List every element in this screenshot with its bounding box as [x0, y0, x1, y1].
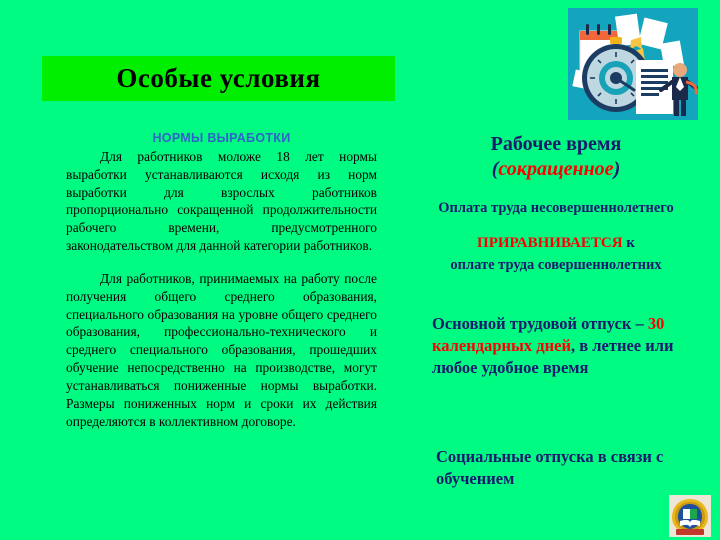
equals-tail: к	[623, 235, 635, 251]
page-title: Особые условия	[116, 63, 320, 94]
equals-emphasis: ПРИРАВНИВАЕТСЯ	[477, 235, 622, 251]
line-equals: ПРИРАВНИВАЕТСЯ к	[396, 234, 716, 252]
paragraph-norms-graduates: Для работников, принимаемых на работу по…	[66, 270, 377, 430]
line-minor-pay: Оплата труда несовершеннолетнего	[396, 200, 716, 217]
paren-close: )	[614, 158, 621, 180]
block-main-vacation: Основной трудовой отпуск – 30 календарны…	[432, 313, 712, 379]
vacation-part1: Основной трудовой отпуск –	[432, 314, 648, 333]
line-equals-second: оплате труда совершеннолетних	[396, 257, 716, 274]
section-heading-norms: НОРМЫ ВЫРАБОТКИ	[66, 131, 377, 145]
left-text-column: НОРМЫ ВЫРАБОТКИ Для работников моложе 18…	[66, 131, 377, 430]
working-time-stopwatch-illustration	[568, 8, 698, 120]
heading-working-time-reduced: (сокращенное)	[396, 157, 716, 181]
right-text-column: Рабочее время (сокращенное) Оплата труда…	[396, 132, 716, 275]
reduced-emphasis: сокращенное	[498, 158, 613, 180]
block-social-vacation: Социальные отпуска в связи с обучением	[436, 446, 716, 490]
heading-working-time: Рабочее время	[396, 132, 716, 156]
institution-emblem	[669, 495, 711, 537]
red-banner	[676, 529, 704, 535]
paragraph-norms-minors: Для работников моложе 18 лет нормы выраб…	[66, 148, 377, 255]
slide-title-box: Особые условия	[42, 56, 395, 101]
slide-root: Особые условия	[0, 0, 720, 540]
